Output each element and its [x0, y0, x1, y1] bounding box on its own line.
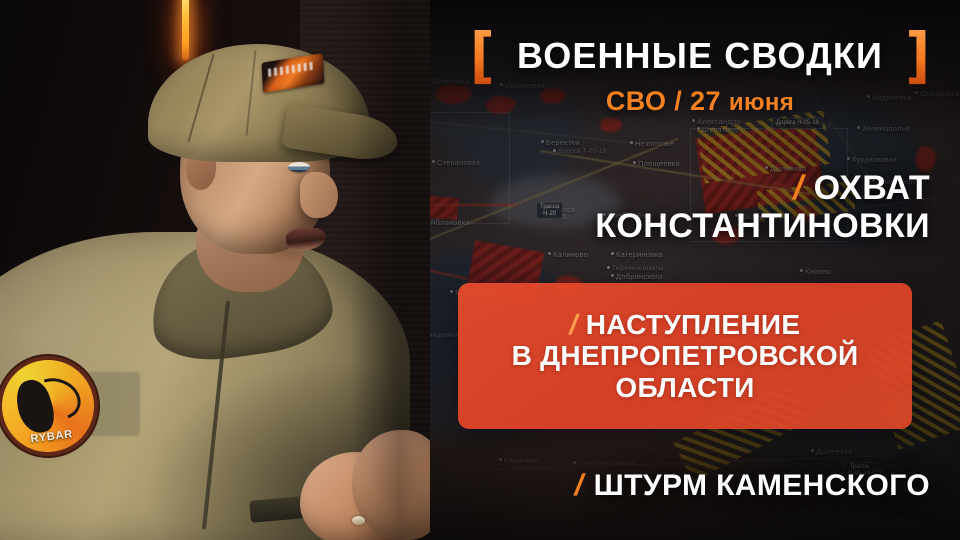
subtitle-prefix: СВО / 27 [606, 86, 721, 116]
headline-1-line1: ОХВАТ [814, 169, 930, 207]
headline-slash-icon: / [566, 309, 581, 341]
presenter-nose [300, 172, 338, 218]
headline-3-line1: ШТУРМ КАМЕНСКОГО [594, 469, 930, 502]
bracket-right-icon: ] [905, 26, 930, 86]
headline-2-line3: ОБЛАСТИ [512, 372, 859, 404]
headline-2-line1: НАСТУПЛЕНИЕ [586, 309, 801, 340]
subtitle-date: СВО / 27 июня [470, 86, 930, 117]
rybar-shoulder-patch: RYBAR [0, 355, 99, 458]
headline-2-line2: В ДНЕПРОПЕТРОВСКОЙ [512, 340, 859, 372]
headline-2-line1-row: /НАСТУПЛЕНИЕ [512, 309, 859, 341]
headline-slash-icon: / [790, 170, 808, 206]
page-title: ВОЕННЫЕ СВОДКИ [495, 38, 906, 74]
headline-item-2-card: /НАСТУПЛЕНИЕ В ДНЕПРОПЕТРОВСКОЙ ОБЛАСТИ [458, 283, 912, 429]
broadcast-thumbnail: ЯблоновкаИшинговкаБересткиНезопольеСтепа… [0, 0, 960, 540]
title-row: [ ВОЕННЫЕ СВОДКИ ] [470, 28, 930, 84]
presenter-area: RYBAR [0, 0, 430, 540]
subtitle-month: июня [729, 89, 794, 116]
studio-edge-fade [350, 0, 430, 540]
headline-item-1: /ОХВАТ КОНСТАНТИНОВКИ [470, 170, 930, 244]
headline-1-line2: КОНСТАНТИНОВКИ [470, 208, 930, 244]
headline-slash-icon: / [571, 470, 587, 502]
headline-2-text: /НАСТУПЛЕНИЕ В ДНЕПРОПЕТРОВСКОЙ ОБЛАСТИ [506, 309, 865, 404]
bracket-left-icon: [ [470, 26, 495, 86]
presenter-eye [288, 162, 310, 172]
headline-item-3: /ШТУРМ КАМЕНСКОГО [470, 470, 930, 502]
